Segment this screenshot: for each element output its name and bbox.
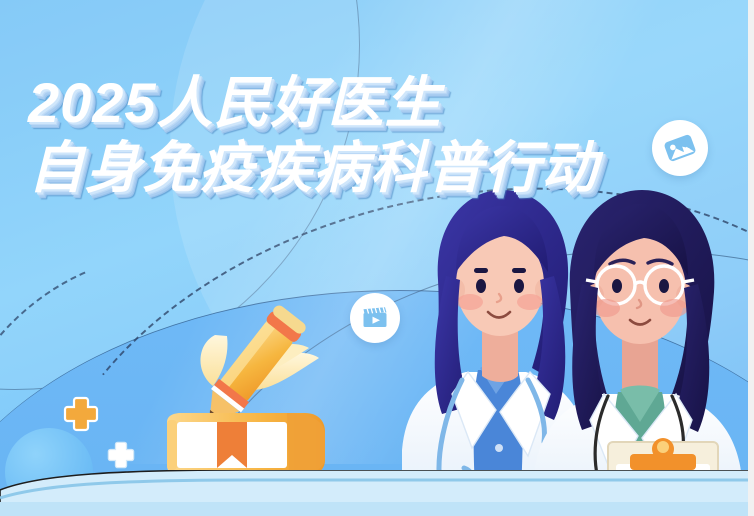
- plus-icon: [62, 395, 100, 433]
- video-badge[interactable]: [350, 293, 400, 343]
- plus-decoration-orange: [62, 395, 100, 438]
- page-title: 2025人民好医生 自身免疫疾病科普行动: [28, 74, 598, 196]
- plus-icon: [106, 440, 136, 470]
- poster-canvas: 2025人民好医生 自身免疫疾病科普行动: [0, 0, 754, 516]
- doctor-right-eye: [659, 279, 669, 293]
- photo-icon: [663, 131, 697, 165]
- doctor-left-eye: [514, 279, 524, 293]
- pencil-and-book-illustration: [155, 300, 345, 495]
- title-line-1: 2025人民好医生: [28, 74, 598, 131]
- doctors-illustration: [400, 180, 754, 516]
- photo-badge[interactable]: [652, 120, 708, 176]
- doctor-right-eye: [612, 279, 622, 293]
- book-icon: [167, 413, 325, 476]
- video-clapperboard-icon: [360, 303, 390, 333]
- doctor-left-eye: [476, 279, 486, 293]
- title-line-2: 自身免疫疾病科普行动: [28, 139, 598, 196]
- desk: [0, 470, 754, 516]
